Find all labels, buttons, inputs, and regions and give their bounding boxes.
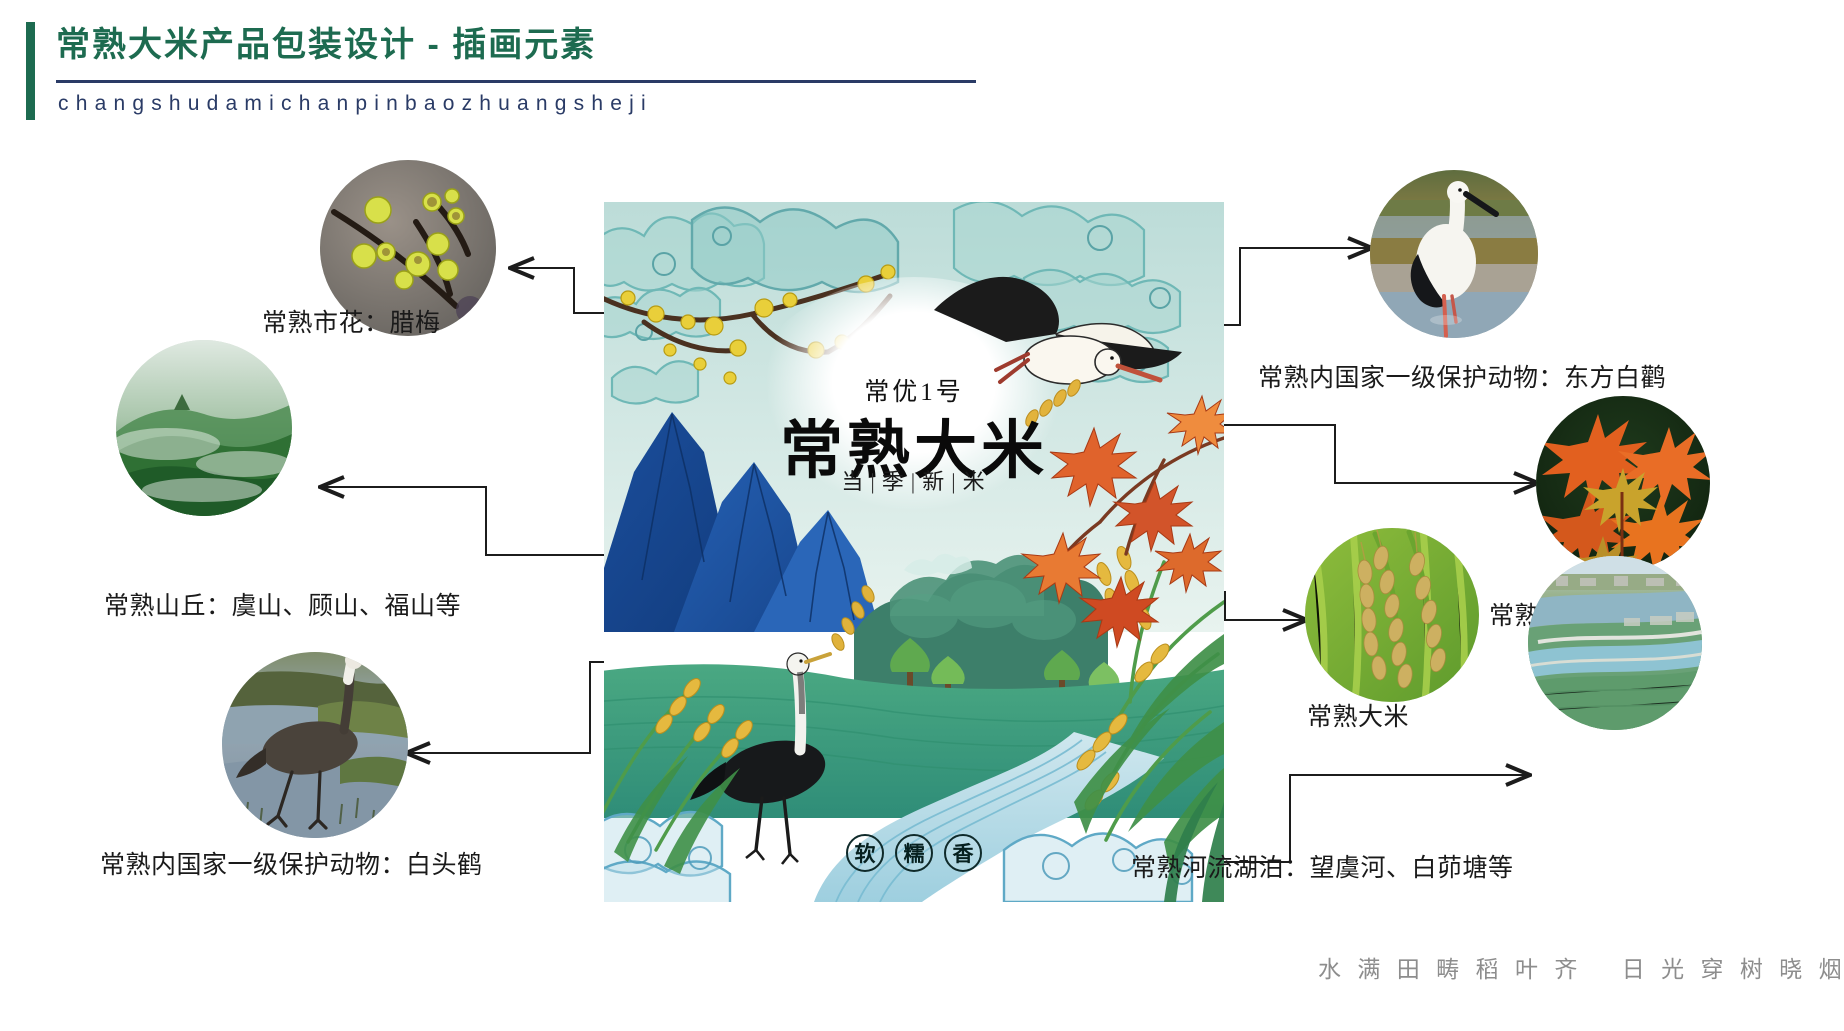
thumb-hooded-crane[interactable]	[222, 652, 408, 838]
connector-wintersweet	[512, 268, 604, 313]
badge-fragrant: 香	[944, 834, 982, 872]
connector-hooded-crane	[408, 662, 604, 753]
thumb-rice[interactable]	[1305, 528, 1479, 702]
caption-wintersweet: 常熟市花：腊梅	[262, 303, 441, 339]
thumb-hills[interactable]	[116, 340, 292, 516]
badge-soft: 软	[846, 834, 884, 872]
slide-canvas: 常熟大米产品包装设计 - 插画元素 changshudamichanpinbao…	[0, 0, 1844, 1031]
thumb-rivers[interactable]	[1528, 556, 1702, 730]
caption-rivers: 常熟河流湖泊：望虞河、白茆塘等	[1131, 848, 1514, 884]
badge-sticky: 糯	[895, 834, 933, 872]
thumb-stork[interactable]	[1370, 170, 1538, 338]
package-artwork: C H A N G Y O U Y I H A O 常优1号 常熟大米 当|季|…	[604, 202, 1224, 902]
red-maple-photo	[1536, 396, 1710, 570]
caption-rice: 常熟大米	[1307, 697, 1409, 733]
caption-stork: 常熟内国家一级保护动物：东方白鹳	[1258, 358, 1666, 394]
caption-hills: 常熟山丘：虞山、顾山、福山等	[104, 586, 461, 622]
caption-hooded-crane: 常熟内国家一级保护动物：白头鹤	[100, 845, 483, 881]
package-illustration	[604, 202, 1224, 902]
footer-poem: 水 满 田 畴 稻 叶 齐 日 光 穿 树 晓 烟 低	[1318, 950, 1844, 984]
river-aerial-photo	[1528, 556, 1702, 730]
misty-hills-photo	[116, 340, 292, 516]
rice-ears-photo	[1305, 528, 1479, 702]
connector-hills	[322, 487, 604, 555]
hooded-crane-photo	[222, 652, 408, 838]
thumb-maple[interactable]	[1536, 396, 1710, 570]
oriental-stork-photo	[1370, 170, 1538, 338]
